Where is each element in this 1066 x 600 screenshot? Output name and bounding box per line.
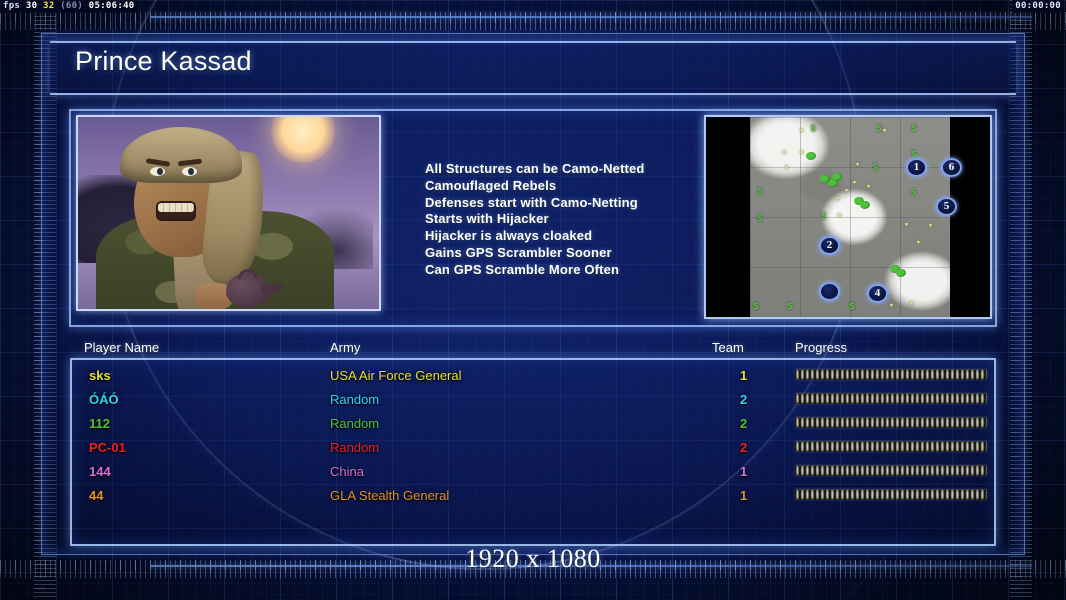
- table-row[interactable]: PC-01Random2: [84, 436, 994, 460]
- map-grid: [750, 117, 950, 317]
- column-header-army: Army: [330, 340, 360, 355]
- table-row[interactable]: 44GLA Stealth General1: [84, 484, 994, 508]
- map-supply-icon: $: [820, 212, 828, 220]
- map-start-position-2[interactable]: 2: [819, 236, 840, 255]
- map-tech-building-icon: ✶: [888, 302, 895, 309]
- player-team: 2: [740, 388, 747, 412]
- ability-line: Camouflaged Rebels: [425, 178, 645, 195]
- player-name: 112: [89, 412, 110, 436]
- map-foliage-icon: [820, 175, 830, 183]
- map-tech-building-icon: ✶: [783, 164, 790, 171]
- player-team: 2: [740, 436, 747, 460]
- column-header-progress: Progress: [795, 340, 847, 355]
- map-supply-icon: $: [909, 188, 917, 196]
- ability-line: Defenses start with Camo-Netting: [425, 195, 645, 212]
- portrait-pupil-left: [157, 168, 163, 175]
- map-supply-icon: $: [871, 163, 879, 171]
- map-supply-icon: $: [756, 187, 764, 195]
- player-team: 1: [740, 484, 747, 508]
- player-progress-bar: [795, 489, 987, 500]
- table-row[interactable]: sksUSA Air Force General1: [84, 364, 994, 388]
- game-timer: 00:00:00: [1012, 0, 1064, 13]
- map-tech-building-icon: ✶: [836, 212, 843, 219]
- map-supply-icon: $: [756, 214, 764, 222]
- table-row[interactable]: 144China1: [84, 460, 994, 484]
- map-start-position-6[interactable]: 6: [941, 158, 962, 177]
- map-tech-building-icon: ✶: [781, 149, 788, 156]
- fps-label: fps: [3, 1, 20, 11]
- player-name: ÓÁÓ: [89, 388, 119, 412]
- player-name: 44: [89, 484, 103, 508]
- map-tech-building-icon: ✶: [798, 127, 805, 134]
- fps-value-b: 32: [43, 1, 54, 11]
- player-progress-bar: [795, 465, 987, 476]
- column-header-player-name: Player Name: [84, 340, 159, 355]
- page-title: Prince Kassad: [75, 46, 252, 77]
- player-name: sks: [89, 364, 111, 388]
- map-supply-icon: $: [848, 302, 856, 310]
- map-tech-building-icon: ✶: [851, 179, 858, 186]
- player-name: 144: [89, 460, 111, 484]
- general-portrait: [76, 115, 381, 311]
- map-start-position-4[interactable]: 4: [867, 284, 888, 303]
- general-abilities-list: All Structures can be Camo-NettedCamoufl…: [425, 161, 645, 279]
- table-header: Player Name Army Team Progress: [84, 340, 994, 358]
- column-header-team: Team: [712, 340, 744, 355]
- player-progress-bar: [795, 441, 987, 452]
- map-supply-icon: $: [752, 302, 760, 310]
- map-tech-building-icon: ✶: [908, 300, 915, 307]
- session-clock: 05:06:40: [89, 1, 135, 11]
- fps-value-a: 30: [26, 1, 37, 11]
- map-tech-building-icon: ✶: [865, 183, 872, 190]
- ability-line: Hijacker is always cloaked: [425, 228, 645, 245]
- map-tech-building-icon: ✶: [798, 149, 805, 156]
- player-army: Random: [330, 412, 379, 436]
- map-supply-icon: $: [910, 150, 918, 158]
- map-tech-building-icon: ✶: [915, 239, 922, 246]
- map-supply-icon: $: [910, 124, 918, 132]
- player-army: USA Air Force General: [330, 364, 462, 388]
- map-preview[interactable]: ✶✶✶✶✶✶✶✶✶✶✶✶✶✶✶✶✶✶✶$$$$$$$$$$$$16524: [704, 115, 992, 319]
- player-list: sksUSA Air Force General1ÓÁÓRandom2112Ra…: [84, 364, 994, 508]
- player-army: China: [330, 460, 364, 484]
- map-tech-building-icon: ✶: [834, 195, 841, 202]
- player-team: 1: [740, 364, 747, 388]
- map-supply-icon: $: [786, 302, 794, 310]
- portrait-pupil-right: [188, 168, 194, 175]
- ability-line: All Structures can be Camo-Netted: [425, 161, 645, 178]
- portrait-teeth: [158, 203, 194, 212]
- ability-line: Gains GPS Scrambler Sooner: [425, 245, 645, 262]
- player-progress-bar: [795, 417, 987, 428]
- map-tech-building-icon: ✶: [927, 222, 934, 229]
- player-army: Random: [330, 388, 379, 412]
- map-start-position-1[interactable]: 1: [906, 158, 927, 177]
- map-start-position-5[interactable]: 5: [936, 197, 957, 216]
- player-team: 2: [740, 412, 747, 436]
- map-foliage-icon: [896, 269, 906, 277]
- ability-line: Starts with Hijacker: [425, 211, 645, 228]
- player-army: GLA Stealth General: [330, 484, 449, 508]
- player-progress-bar: [795, 393, 987, 404]
- map-tech-building-icon: ✶: [843, 187, 850, 194]
- map-foliage-icon: [806, 152, 816, 160]
- table-row[interactable]: ÓÁÓRandom2: [84, 388, 994, 412]
- player-name: PC-01: [89, 436, 126, 460]
- map-start-position-empty[interactable]: [819, 282, 840, 301]
- fps-counter: fps 30 32 (60) 05:06:40: [0, 0, 138, 13]
- ability-line: Can GPS Scramble More Often: [425, 262, 645, 279]
- fps-value-c: (60): [60, 1, 83, 11]
- map-supply-icon: $: [809, 124, 817, 132]
- player-army: Random: [330, 436, 379, 460]
- map-supply-icon: $: [875, 124, 883, 132]
- map-foliage-icon: [860, 201, 870, 209]
- map-tech-building-icon: ✶: [854, 161, 861, 168]
- map-image: ✶✶✶✶✶✶✶✶✶✶✶✶✶✶✶✶✶✶✶$$$$$$$$$$$$16524: [750, 117, 950, 317]
- map-tech-building-icon: ✶: [903, 221, 910, 228]
- player-progress-bar: [795, 369, 987, 380]
- table-row[interactable]: 112Random2: [84, 412, 994, 436]
- resolution-label: 1920 x 1080: [0, 544, 1066, 574]
- player-team: 1: [740, 460, 747, 484]
